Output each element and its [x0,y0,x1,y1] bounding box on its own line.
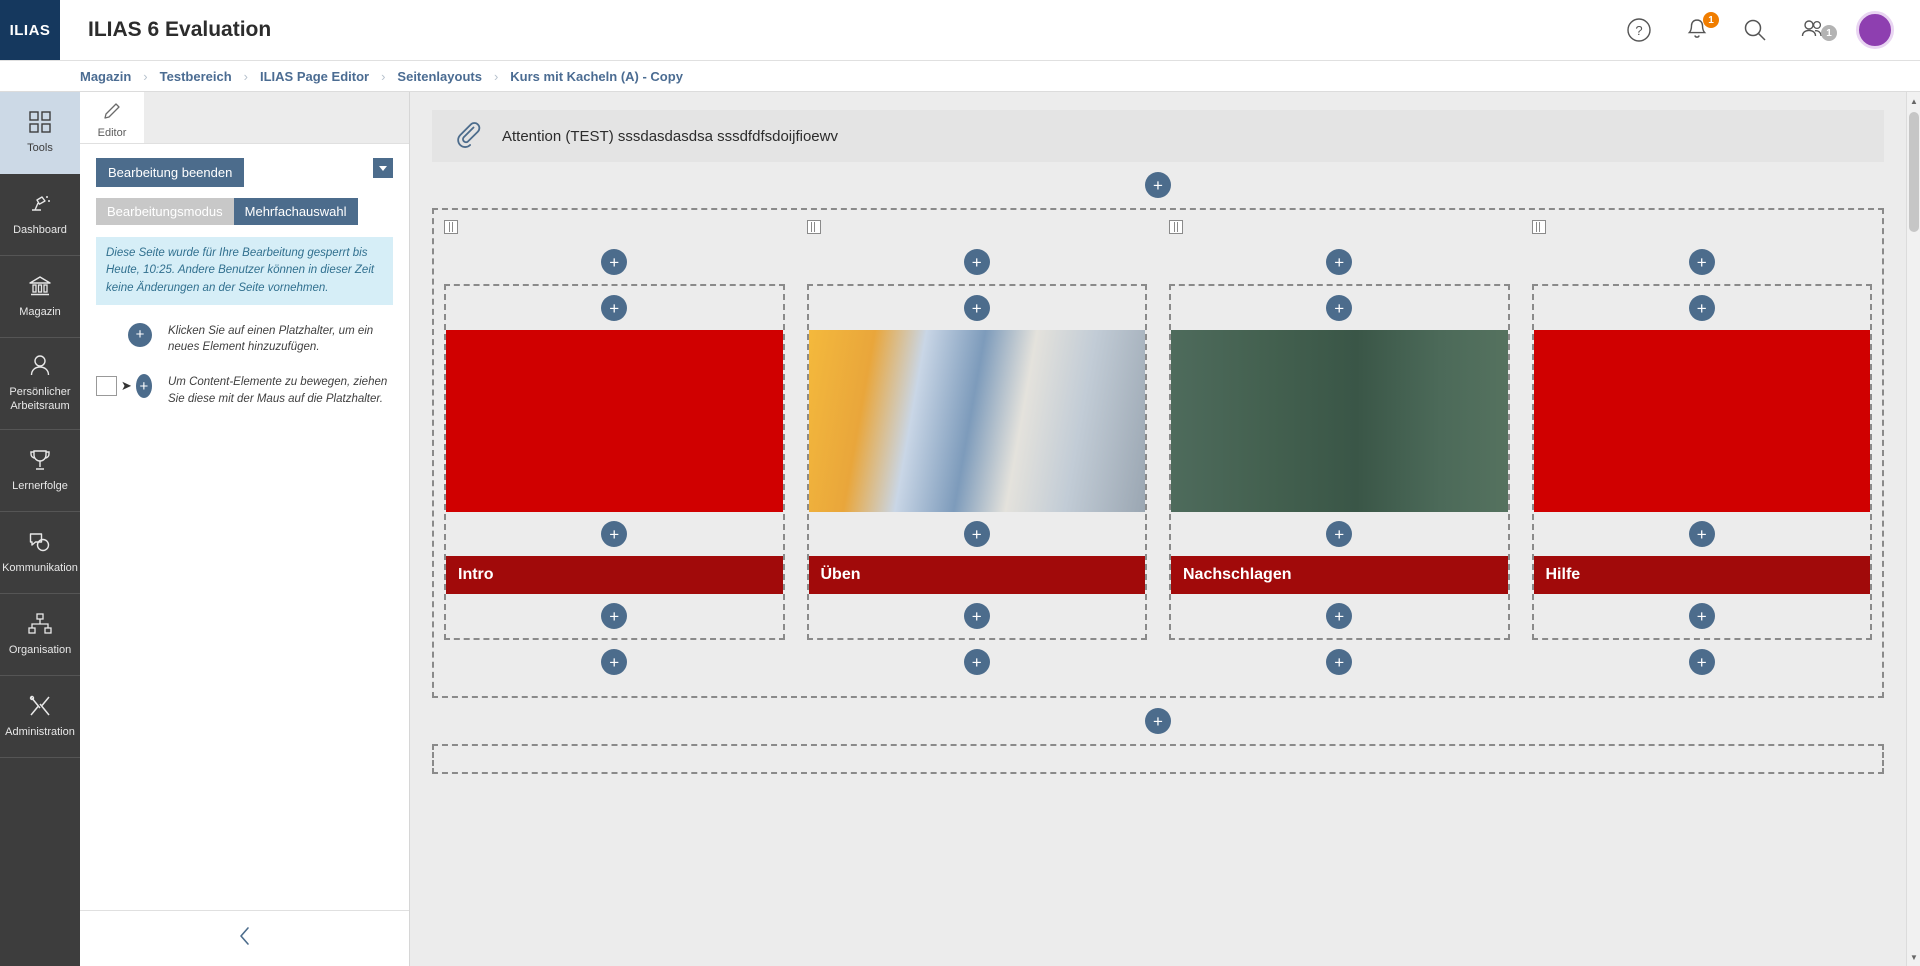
add-placeholder-button[interactable]: + [964,249,990,275]
add-placeholder-button[interactable]: + [964,603,990,629]
sidebar-item-kommunikation[interactable]: Kommunikation [0,512,80,594]
add-inside-tile-bottom: + [1534,594,1871,638]
tab-editor-label: Editor [98,127,127,139]
page-canvas: Attention (TEST) sssdasdasdsa sssdfdfsdo… [410,92,1920,966]
main-navigation: Tools Dashboard Magazin Persönlicher Arb… [0,92,80,966]
add-placeholder-button[interactable]: + [1689,249,1715,275]
column-handle-icon[interactable] [807,220,821,234]
column-handle-cell [444,220,785,234]
add-placeholder-button[interactable]: + [601,521,627,547]
add-placeholder-button[interactable]: + [1689,649,1715,675]
tile-card[interactable]: + + Hilfe + [1532,284,1873,640]
breadcrumb-item-current[interactable]: Kurs mit Kacheln (A) - Copy [510,69,683,84]
desk-lamp-icon [28,191,52,217]
add-inside-tile-top: + [1534,286,1871,330]
next-section-placeholder[interactable] [432,744,1884,774]
add-section-top: + [432,162,1884,208]
tile-section: + + + Intro [432,208,1884,698]
column-handle-icon[interactable] [444,220,458,234]
add-placeholder-button[interactable]: + [601,295,627,321]
body: Tools Dashboard Magazin Persönlicher Arb… [0,92,1920,966]
breadcrumb-item-seitenlayouts[interactable]: Seitenlayouts [397,69,482,84]
sidebar-item-label: Kommunikation [2,562,78,576]
sidebar-item-label: Magazin [19,306,61,320]
vertical-scrollbar[interactable]: ▲ ▼ [1906,92,1920,966]
help-icon[interactable]: ? [1624,15,1654,45]
arrow-right-icon: ➤ [121,378,132,394]
person-icon [29,353,51,379]
editor-panel-tabs: Editor [80,92,409,144]
add-placeholder-button[interactable]: + [1326,295,1352,321]
breadcrumb: Magazin › Testbereich › ILIAS Page Edito… [80,69,683,84]
add-below-tile: + [807,640,1148,684]
plus-icon: + [136,374,152,398]
add-inside-tile-top: + [809,286,1146,330]
attachment-bar[interactable]: Attention (TEST) sssdasdasdsa sssdfdfsdo… [432,110,1884,162]
chevron-left-icon[interactable] [235,925,255,952]
add-placeholder-button[interactable]: + [964,295,990,321]
segment-bearbeitungsmodus[interactable]: Bearbeitungsmodus [96,198,234,225]
column-handle-cell [1169,220,1510,234]
sidebar-item-tools[interactable]: Tools [0,92,80,174]
hint-text: Klicken Sie auf einen Platzhalter, um ei… [158,323,393,356]
add-inside-tile-bottom: + [809,594,1146,638]
search-icon[interactable] [1740,15,1770,45]
add-placeholder-button[interactable]: + [1326,521,1352,547]
add-inside-tile-mid: + [446,512,783,556]
add-section-bottom: + [432,698,1884,744]
top-bar: ILIAS ILIAS 6 Evaluation ? 1 1 [0,0,1920,60]
chevron-down-icon[interactable] [373,158,393,178]
breadcrumb-separator: › [381,69,385,84]
hint-click-placeholder: + Klicken Sie auf einen Platzhalter, um … [96,323,393,356]
add-inside-tile-mid: + [809,512,1146,556]
add-above-tile: + [444,240,785,284]
add-placeholder-button[interactable]: + [1326,603,1352,629]
hint-text: Um Content-Elemente zu bewegen, ziehen S… [158,374,393,407]
hint-lead: + [96,323,158,347]
tile-image [446,330,783,512]
tile-label: Üben [809,556,1146,594]
tile-image [809,330,1146,512]
add-placeholder-button[interactable]: + [1145,172,1171,198]
breadcrumb-item-testbereich[interactable]: Testbereich [160,69,232,84]
plus-icon: + [128,323,152,347]
add-inside-tile-top: + [1171,286,1508,330]
tab-editor[interactable]: Editor [80,92,144,143]
sidebar-item-organisation[interactable]: Organisation [0,594,80,676]
tile-label: Hilfe [1534,556,1871,594]
column-handle-icon[interactable] [1532,220,1546,234]
tile-image [1171,330,1508,512]
add-above-tile: + [807,240,1148,284]
sidebar-item-label: Persönlicher Arbeitsraum [2,386,78,414]
sidebar-item-lernerfolge[interactable]: Lernerfolge [0,430,80,512]
scroll-up-arrow[interactable]: ▲ [1907,94,1920,108]
page-canvas-scroll: Attention (TEST) sssdasdasdsa sssdfdfsdo… [410,92,1906,966]
tools-icon [28,693,52,719]
add-placeholder-button[interactable]: + [964,649,990,675]
tab-filler [144,92,409,143]
scrollbar-thumb[interactable] [1909,112,1919,232]
editing-mode-segmented-control: Bearbeitungsmodus Mehrfachauswahl [96,198,393,225]
editor-panel-footer [80,910,409,966]
trophy-icon [29,447,51,473]
tile-column: + + + Intro [444,240,785,684]
drag-source-box [96,376,117,396]
column-handle-icon[interactable] [1169,220,1183,234]
scroll-down-arrow[interactable]: ▼ [1907,950,1920,964]
tile-label: Intro [446,556,783,594]
add-placeholder-button[interactable]: + [601,649,627,675]
column-handles [444,218,1872,240]
add-placeholder-button[interactable]: + [1145,708,1171,734]
add-placeholder-button[interactable]: + [964,521,990,547]
users-icon[interactable]: 1 [1798,15,1828,45]
tile-column: + + + Nachschlagen [1169,240,1510,684]
sidebar-item-persoenlicher-arbeitsraum[interactable]: Persönlicher Arbeitsraum [0,338,80,430]
segment-mehrfachauswahl[interactable]: Mehrfachauswahl [234,198,358,225]
sidebar-item-label: Dashboard [13,224,67,238]
add-placeholder-button[interactable]: + [1326,649,1352,675]
bank-icon [28,273,52,299]
add-inside-tile-mid: + [1171,512,1508,556]
column-handle-cell [1532,220,1873,234]
breadcrumb-separator: › [143,69,147,84]
ilias-page-editor-window: ILIAS ILIAS 6 Evaluation ? 1 1 Magazin [0,0,1920,966]
tile-columns: + + + Intro [444,240,1872,684]
breadcrumb-item-magazin[interactable]: Magazin [80,69,131,84]
ilias-logo[interactable]: ILIAS [0,0,60,60]
attachment-text: Attention (TEST) sssdasdasdsa sssdfdfsdo… [502,128,838,145]
add-inside-tile-bottom: + [1171,594,1508,638]
column-handle-cell [807,220,1148,234]
tile-column: + + + Üben [807,240,1148,684]
editor-panel: Editor Bearbeitung beenden Bearbeitungsm… [80,92,410,966]
sidebar-item-magazin[interactable]: Magazin [0,256,80,338]
editor-panel-content: Bearbeitung beenden Bearbeitungsmodus Me… [80,144,409,407]
tile-label: Nachschlagen [1171,556,1508,594]
add-placeholder-button[interactable]: + [1326,249,1352,275]
svg-text:?: ? [1635,23,1642,38]
add-above-tile: + [1532,240,1873,284]
grid-icon [29,109,51,135]
tile-image [1534,330,1871,512]
avatar[interactable] [1856,11,1894,49]
add-placeholder-button[interactable]: + [1689,295,1715,321]
org-chart-icon [28,611,52,637]
pencil-icon [103,102,121,123]
breadcrumb-separator: › [494,69,498,84]
breadcrumb-bar: Magazin › Testbereich › ILIAS Page Edito… [0,60,1920,92]
sidebar-item-label: Administration [5,726,75,740]
add-inside-tile-top: + [446,286,783,330]
tile-card[interactable]: + + Nachschlagen + [1169,284,1510,640]
hint-drag-element: ➤ + Um Content-Elemente zu bewegen, zieh… [96,374,393,407]
add-placeholder-button[interactable]: + [601,249,627,275]
editor-actions: Bearbeitung beenden [96,158,393,187]
add-below-tile: + [1169,640,1510,684]
sidebar-item-label: Lernerfolge [12,480,68,494]
add-above-tile: + [1169,240,1510,284]
breadcrumb-separator: › [244,69,248,84]
hint-lead: ➤ + [96,374,158,398]
add-placeholder-button[interactable]: + [601,603,627,629]
paperclip-icon [454,120,482,153]
top-bar-actions: ? 1 1 [1624,11,1920,49]
speech-bubbles-icon [28,529,52,555]
tile-card[interactable]: + + Üben + [807,284,1148,640]
sidebar-item-dashboard[interactable]: Dashboard [0,174,80,256]
add-inside-tile-mid: + [1534,512,1871,556]
breadcrumb-item-page-editor[interactable]: ILIAS Page Editor [260,69,369,84]
page-title: ILIAS 6 Evaluation [88,18,271,42]
sidebar-item-label: Tools [27,142,53,156]
end-editing-button[interactable]: Bearbeitung beenden [96,158,244,187]
tile-card[interactable]: + + Intro + [444,284,785,640]
add-placeholder-button[interactable]: + [1689,603,1715,629]
add-below-tile: + [444,640,785,684]
add-below-tile: + [1532,640,1873,684]
users-badge: 1 [1821,25,1837,41]
add-placeholder-button[interactable]: + [1689,521,1715,547]
sidebar-item-label: Organisation [9,644,71,658]
tile-column: + + + Hilfe [1532,240,1873,684]
notifications-badge: 1 [1703,12,1719,28]
lock-notice: Diese Seite wurde für Ihre Bearbeitung g… [96,237,393,305]
sidebar-item-administration[interactable]: Administration [0,676,80,758]
add-inside-tile-bottom: + [446,594,783,638]
notifications-icon[interactable]: 1 [1682,15,1712,45]
